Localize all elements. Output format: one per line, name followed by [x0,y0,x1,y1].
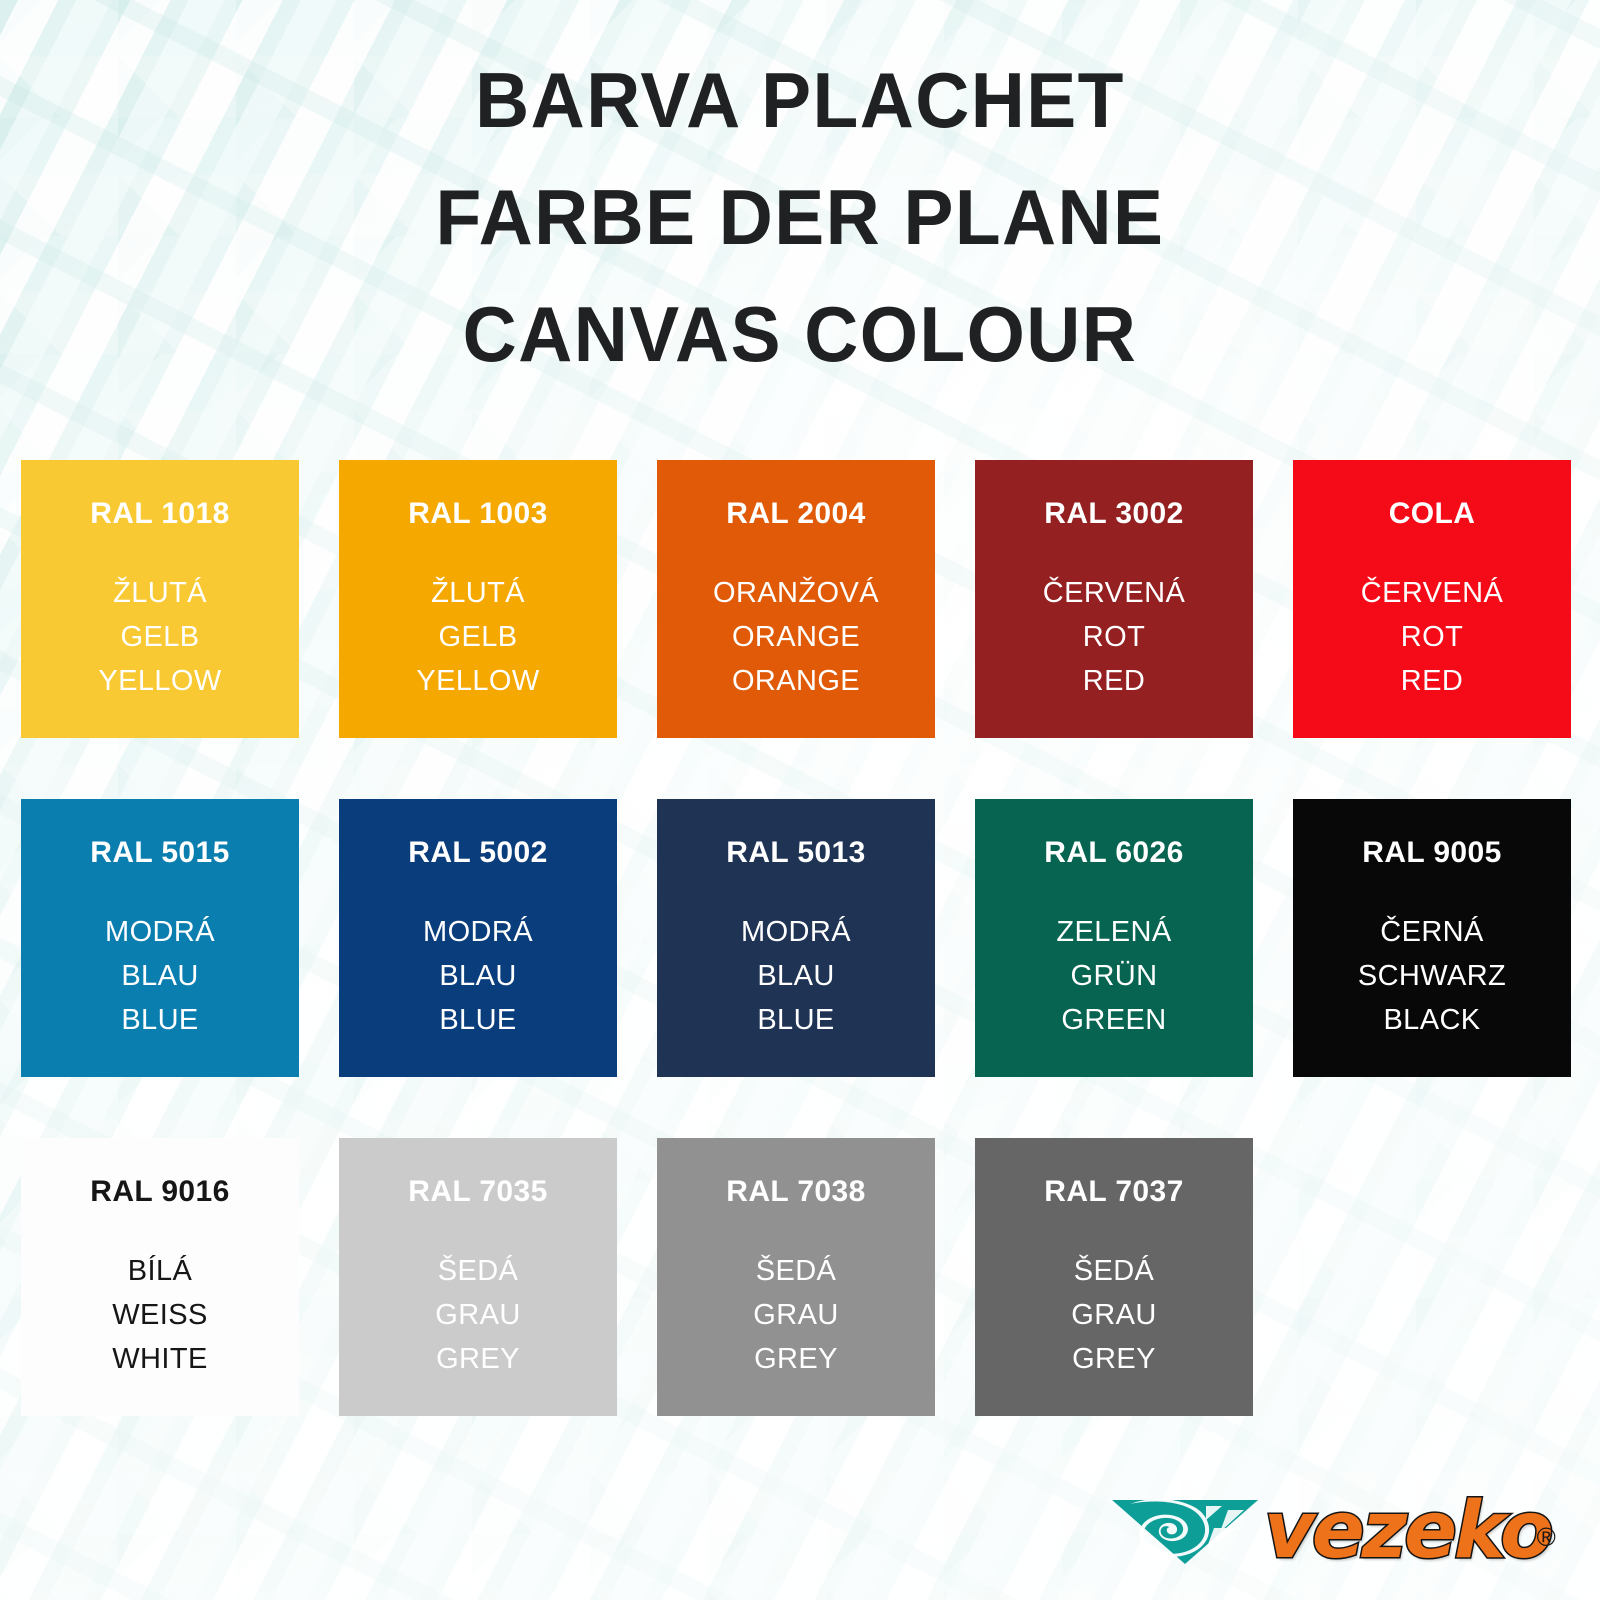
colour-swatch-grid: RAL 1018ŽLUTÁGELBYELLOWRAL 1003ŽLUTÁGELB… [21,460,1579,1477]
swatch-name: BLUE [423,998,533,1042]
colour-swatch[interactable]: RAL 5002MODRÁBLAUBLUE [339,799,617,1077]
swatch-name: GRAU [753,1293,838,1337]
colour-swatch[interactable]: RAL 6026ZELENÁGRÜNGREEN [975,799,1253,1077]
vezeko-logo: vezeko® [1110,1483,1570,1579]
colour-swatch[interactable]: RAL 1003ŽLUTÁGELBYELLOW [339,460,617,738]
swatch-name: GRAU [435,1293,520,1337]
swatch-name: GELB [416,615,539,659]
colour-swatch[interactable]: RAL 7035ŠEDÁGRAUGREY [339,1138,617,1416]
swatch-name: GRAU [1071,1293,1156,1337]
swatch-name: ORANGE [713,615,879,659]
swatch-name-list: ŽLUTÁGELBYELLOW [98,571,221,703]
swatch-name: ORANGE [713,659,879,703]
swatch-name-list: BÍLÁWEISSWHITE [112,1249,207,1381]
swatch-name: RED [1361,659,1503,703]
colour-swatch[interactable]: RAL 1018ŽLUTÁGELBYELLOW [21,460,299,738]
swatch-code-label: COLA [1389,497,1476,531]
swatch-code-label: RAL 3002 [1044,497,1183,531]
swatch-name: YELLOW [98,659,221,703]
infographic-page: BARVA PLACHET FARBE DER PLANE CANVAS COL… [0,0,1600,1600]
swatch-code-label: RAL 1003 [408,497,547,531]
swatch-name: GREY [435,1337,520,1381]
swatch-name-list: ŠEDÁGRAUGREY [753,1249,838,1381]
colour-swatch[interactable]: RAL 7037ŠEDÁGRAUGREY [975,1138,1253,1416]
swatch-name: MODRÁ [105,910,215,954]
swatch-name: ŠEDÁ [753,1249,838,1293]
title-line-en: CANVAS COLOUR [32,276,1568,393]
swatch-code-label: RAL 1018 [90,497,229,531]
swatch-name-list: ŽLUTÁGELBYELLOW [416,571,539,703]
swatch-name-list: ORANŽOVÁORANGEORANGE [713,571,879,703]
colour-swatch[interactable]: COLAČERVENÁROTRED [1293,460,1571,738]
swatch-name: BLACK [1358,998,1506,1042]
swatch-name: ČERVENÁ [1361,571,1503,615]
swatch-name: ORANŽOVÁ [713,571,879,615]
swatch-name: BLUE [105,998,215,1042]
swatch-name: SCHWARZ [1358,954,1506,998]
swatch-name: GELB [98,615,221,659]
swatch-name: YELLOW [416,659,539,703]
colour-swatch[interactable]: RAL 5013MODRÁBLAUBLUE [657,799,935,1077]
swatch-name: GRÜN [1056,954,1171,998]
colour-swatch[interactable]: RAL 5015MODRÁBLAUBLUE [21,799,299,1077]
swatch-name-list: MODRÁBLAUBLUE [741,910,851,1042]
swatch-name-list: ČERNÁSCHWARZBLACK [1358,910,1506,1042]
swatch-row: RAL 9016BÍLÁWEISSWHITERAL 7035ŠEDÁGRAUGR… [21,1138,1579,1416]
title-line-cs: BARVA PLACHET [32,42,1568,159]
swatch-name: ČERVENÁ [1043,571,1185,615]
colour-swatch[interactable]: RAL 7038ŠEDÁGRAUGREY [657,1138,935,1416]
swatch-name: BLAU [741,954,851,998]
logo-wordmark-text: vezeko [1264,1486,1551,1576]
swatch-name: ČERNÁ [1358,910,1506,954]
page-title: BARVA PLACHET FARBE DER PLANE CANVAS COL… [0,42,1600,393]
swatch-name-list: ČERVENÁROTRED [1043,571,1185,703]
swatch-code-label: RAL 5013 [726,836,865,870]
colour-swatch[interactable]: RAL 9005ČERNÁSCHWARZBLACK [1293,799,1571,1077]
swatch-name: ŠEDÁ [1071,1249,1156,1293]
vezeko-spiral-triangle-icon [1110,1494,1260,1568]
colour-swatch[interactable]: RAL 2004ORANŽOVÁORANGEORANGE [657,460,935,738]
swatch-name: GREY [1071,1337,1156,1381]
swatch-code-label: RAL 2004 [726,497,865,531]
swatch-name-list: MODRÁBLAUBLUE [423,910,533,1042]
swatch-code-label: RAL 9016 [90,1175,229,1209]
swatch-name: GREY [753,1337,838,1381]
swatch-name: BLAU [105,954,215,998]
swatch-code-label: RAL 7035 [408,1175,547,1209]
swatch-row: RAL 1018ŽLUTÁGELBYELLOWRAL 1003ŽLUTÁGELB… [21,460,1579,738]
swatch-row: RAL 5015MODRÁBLAUBLUERAL 5002MODRÁBLAUBL… [21,799,1579,1077]
swatch-name: ŽLUTÁ [416,571,539,615]
swatch-code-label: RAL 5015 [90,836,229,870]
swatch-name: ŠEDÁ [435,1249,520,1293]
swatch-code-label: RAL 7038 [726,1175,865,1209]
swatch-name: ZELENÁ [1056,910,1171,954]
swatch-name-list: ZELENÁGRÜNGREEN [1056,910,1171,1042]
swatch-name: BLAU [423,954,533,998]
colour-swatch[interactable]: RAL 3002ČERVENÁROTRED [975,460,1253,738]
swatch-name: BÍLÁ [112,1249,207,1293]
colour-swatch[interactable]: RAL 9016BÍLÁWEISSWHITE [21,1138,299,1416]
swatch-name: ROT [1043,615,1185,659]
swatch-code-label: RAL 9005 [1362,836,1501,870]
swatch-name: RED [1043,659,1185,703]
swatch-name: WHITE [112,1337,207,1381]
swatch-code-label: RAL 5002 [408,836,547,870]
swatch-name: WEISS [112,1293,207,1337]
title-line-de: FARBE DER PLANE [32,159,1568,276]
swatch-name: BLUE [741,998,851,1042]
registered-trademark-symbol: ® [1537,1498,1553,1576]
swatch-name: GREEN [1056,998,1171,1042]
logo-wordmark: vezeko® [1264,1492,1551,1570]
swatch-name-list: ČERVENÁROTRED [1361,571,1503,703]
swatch-name: MODRÁ [423,910,533,954]
swatch-name: ŽLUTÁ [98,571,221,615]
swatch-name-list: MODRÁBLAUBLUE [105,910,215,1042]
swatch-code-label: RAL 7037 [1044,1175,1183,1209]
swatch-name: MODRÁ [741,910,851,954]
swatch-name-list: ŠEDÁGRAUGREY [1071,1249,1156,1381]
swatch-name: ROT [1361,615,1503,659]
swatch-name-list: ŠEDÁGRAUGREY [435,1249,520,1381]
swatch-code-label: RAL 6026 [1044,836,1183,870]
